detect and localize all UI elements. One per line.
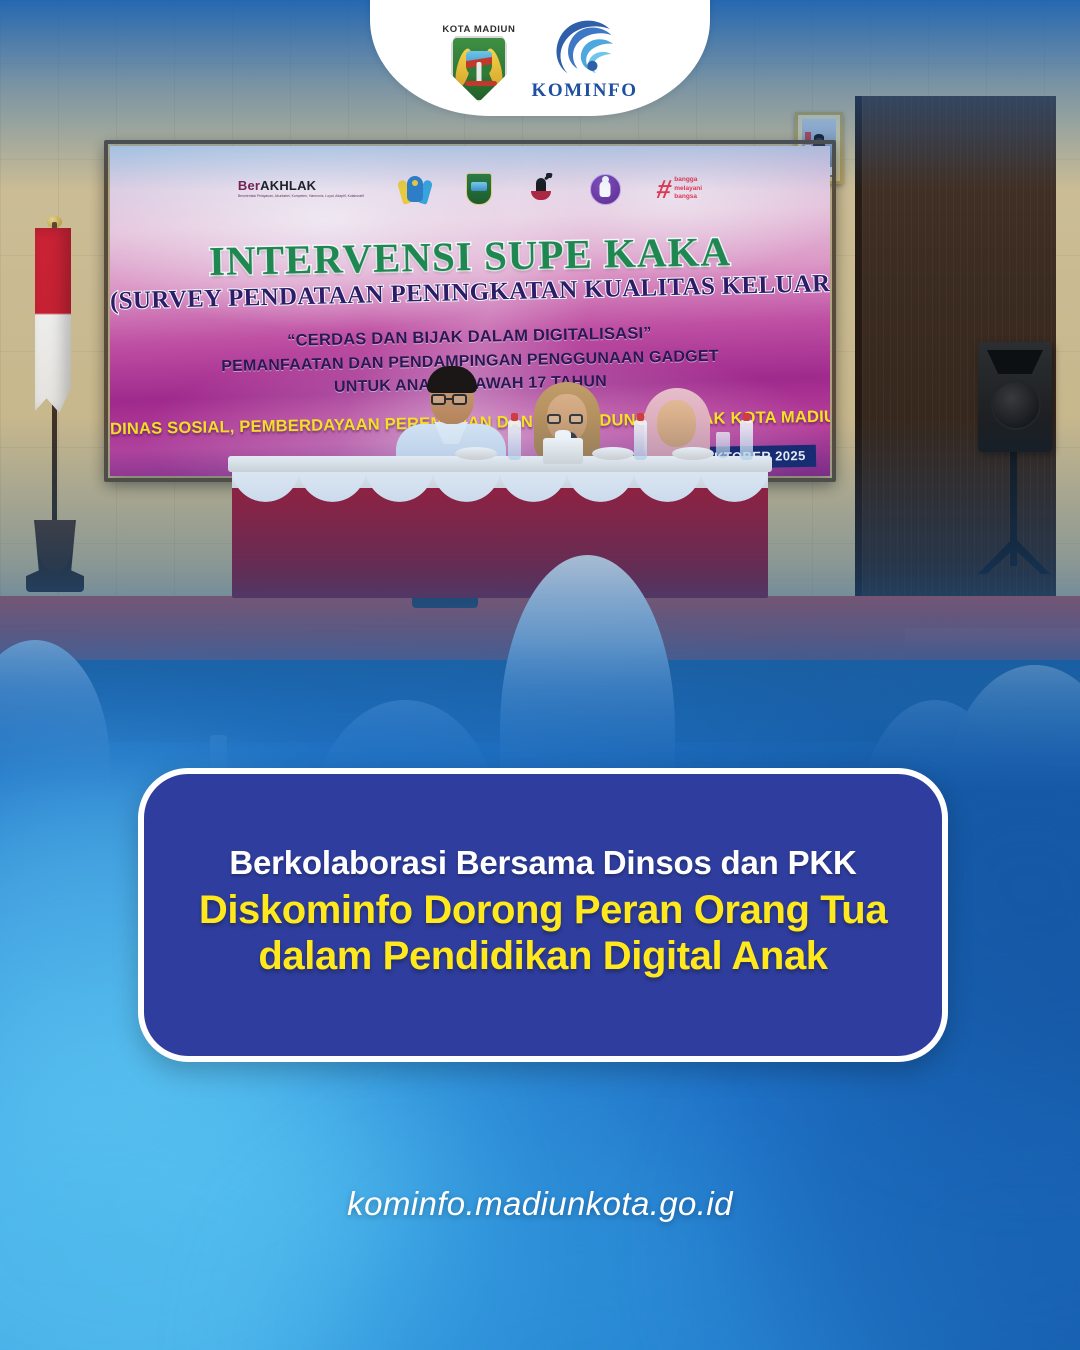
kp-dot (412, 180, 418, 186)
eyeglasses-icon (569, 414, 583, 424)
eyeglasses-icon (547, 414, 561, 424)
kominfo-wordmark: KOMINFO (531, 80, 637, 102)
berakhlak-logo: BerAKHLAK Berorientasi Pelayanan, Akunta… (238, 172, 364, 206)
drinking-glass (716, 432, 730, 458)
madiun-city-crest-icon (451, 36, 507, 102)
footer-website-url[interactable]: kominfo.madiunkota.go.id (0, 1185, 1080, 1223)
kementerian-pppa-icon (400, 174, 430, 204)
speaker-face (657, 400, 696, 447)
headline-main: Diskominfo Dorong Peran Orang Tua dalam … (174, 887, 912, 980)
poster-canvas: BerAKHLAK Berorientasi Pelayanan, Akunta… (0, 0, 1080, 1350)
bangga-tagline: banggamelayanibangsa (674, 176, 702, 202)
water-bottle (740, 420, 753, 460)
plate (592, 447, 634, 460)
table-valance-scallops (232, 468, 768, 524)
banner-logo-row: BerAKHLAK Berorientasi Pelayanan, Akunta… (110, 172, 830, 206)
kominfo-wave-logo-icon (548, 16, 622, 82)
pa-speaker-horn (987, 350, 1043, 374)
tissue-box (543, 438, 583, 464)
berakhlak-wordmark: BerAKHLAK (238, 179, 316, 192)
kominfo-logo-block: KOMINFO (531, 16, 637, 102)
kota-madiun-crest-icon (466, 173, 492, 205)
crest-ribbon (465, 81, 497, 86)
water-bottle (634, 420, 647, 460)
headline-kicker: Berkolaborasi Bersama Dinsos dan PKK (229, 845, 856, 882)
indonesian-flag (35, 228, 71, 413)
berakhlak-tagline: Berorientasi Pelayanan, Akuntabel, Kompe… (238, 194, 364, 199)
plate (672, 447, 714, 460)
eyeglasses-icon (431, 394, 446, 405)
dancer-cap (546, 173, 552, 178)
madiun-dancer-logo (528, 172, 554, 206)
pa-speaker-pole (1010, 448, 1017, 566)
header-logo-tab: KOTA MADIUN KOMINFO (370, 0, 710, 116)
child-figure-icon (600, 181, 611, 197)
dancer-skirt (531, 191, 551, 200)
seminar-stage-photo: BerAKHLAK Berorientasi Pelayanan, Akunta… (0, 0, 1080, 800)
madiun-dancer-icon (528, 173, 554, 205)
hash-icon: # (655, 176, 674, 202)
header-logos: KOTA MADIUN KOMINFO (370, 16, 710, 102)
pa-speaker-on-stand (978, 342, 1052, 452)
pa-speaker-woofer (991, 380, 1041, 430)
water-bottle (508, 420, 521, 460)
bangga-melayani-bangsa-logo: # banggamelayanibangsa (657, 172, 702, 206)
kota-madiun-crest-logo (466, 172, 492, 206)
kota-madiun-label: KOTA MADIUN (442, 24, 515, 35)
kementerian-pppa-logo (400, 172, 430, 206)
perlindungan-anak-logo (590, 172, 621, 206)
headline-card: Berkolaborasi Bersama Dinsos dan PKK Dis… (138, 768, 948, 1062)
perlindungan-anak-icon (590, 174, 621, 205)
speaker-hair (427, 366, 477, 393)
eyeglasses-icon (452, 394, 467, 405)
eyeglasses-bridge (446, 398, 452, 400)
plate (455, 447, 497, 460)
kota-madiun-crest-block: KOTA MADIUN (442, 24, 515, 102)
